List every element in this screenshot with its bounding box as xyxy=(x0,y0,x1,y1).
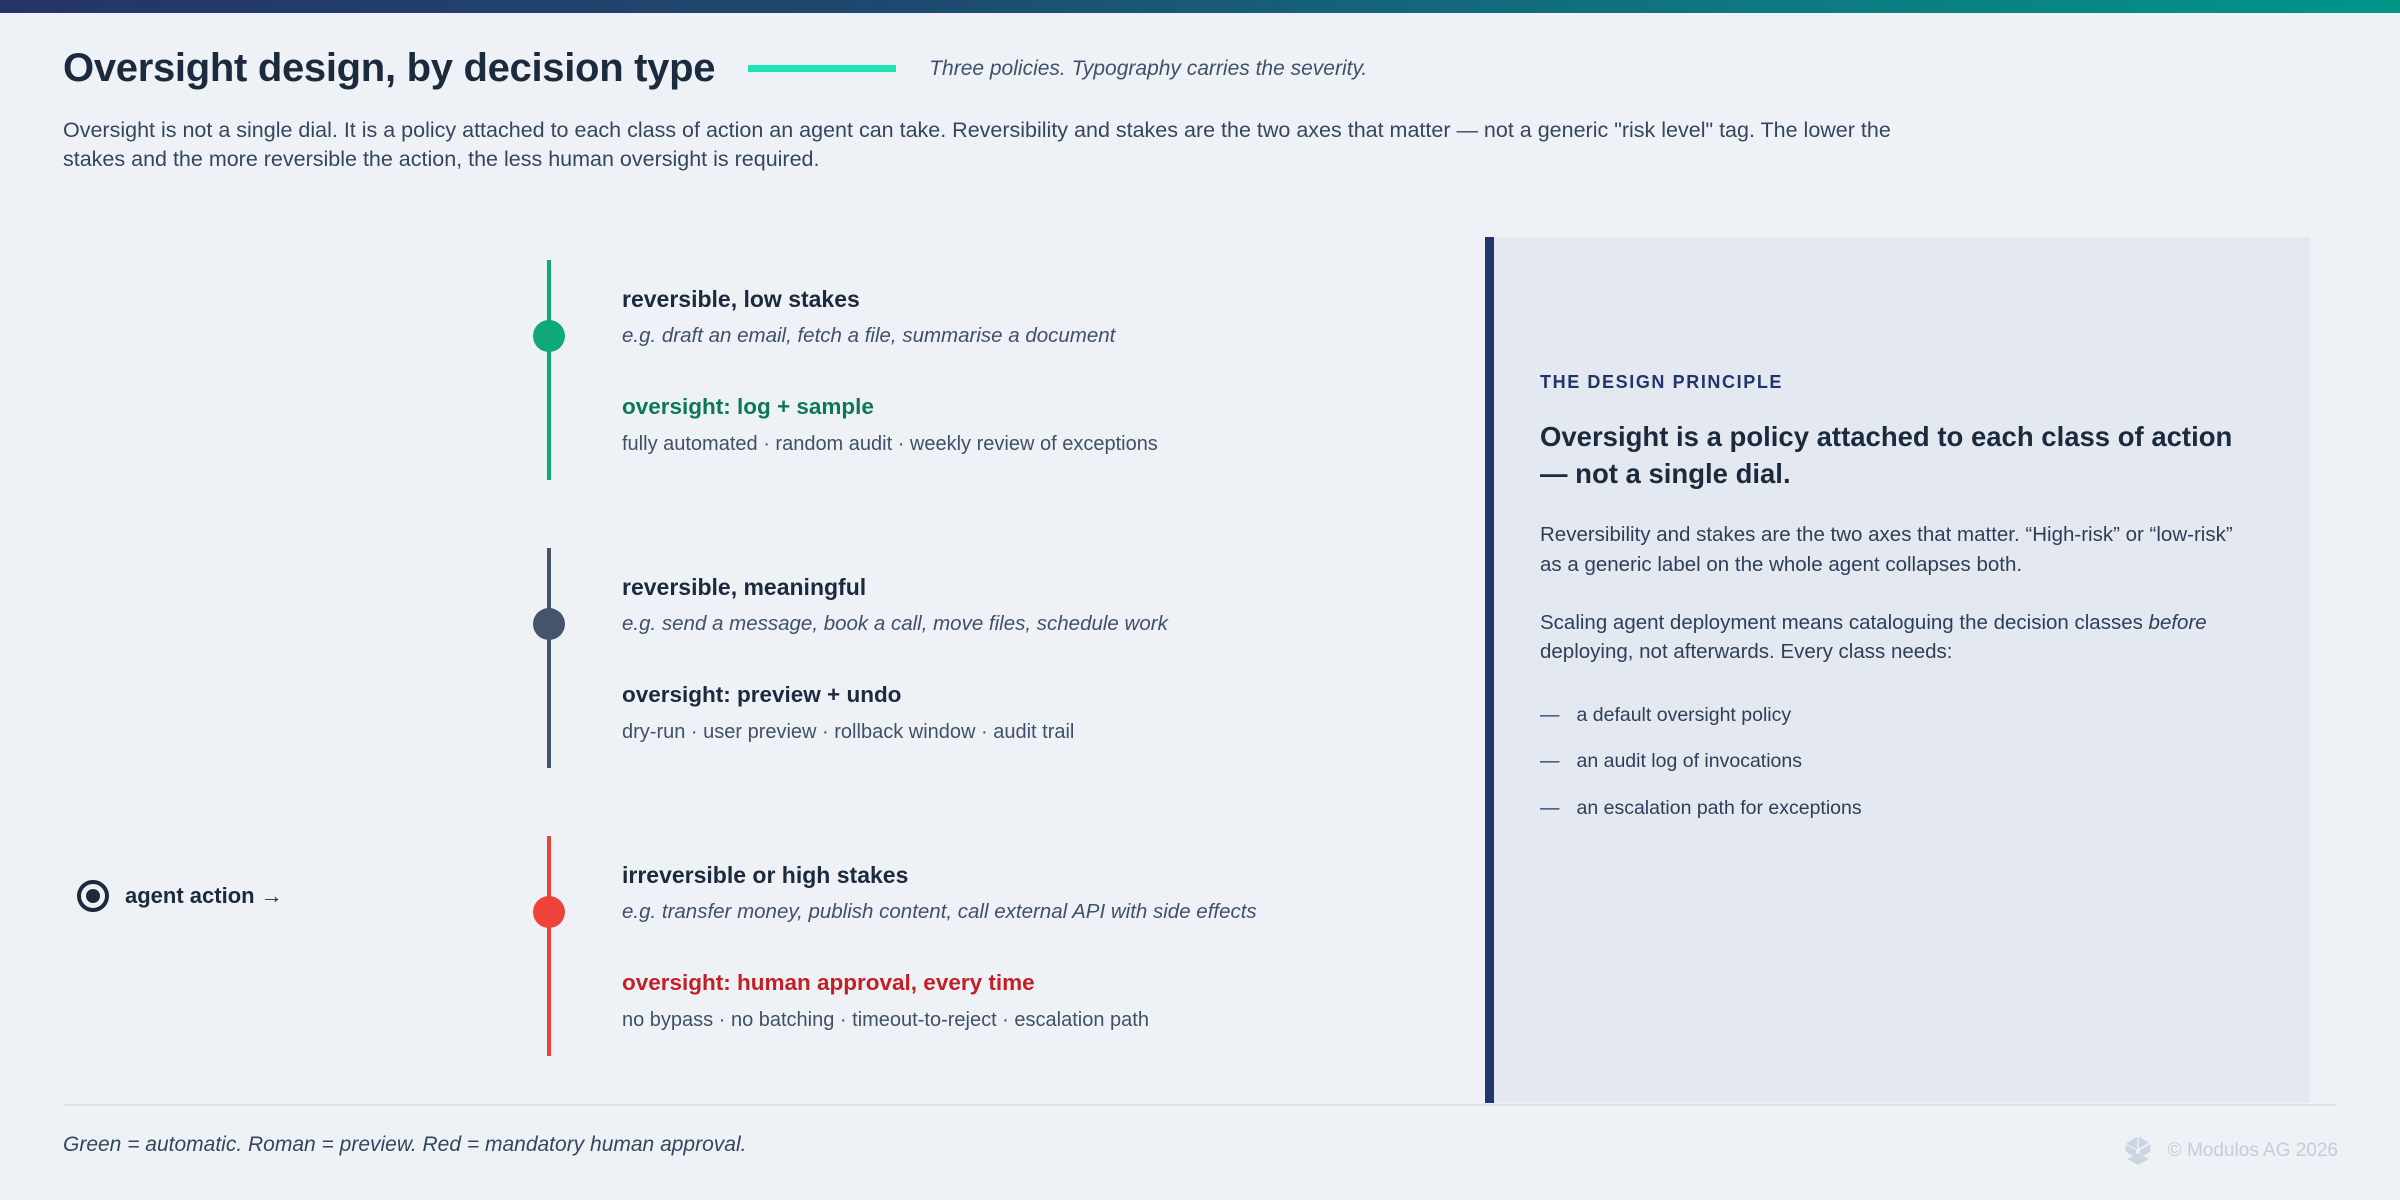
decision-timeline: agent action → reversible, low stakes e.… xyxy=(63,238,1463,1104)
panel-heading: Oversight is a policy attached to each c… xyxy=(1540,419,2248,492)
title-accent-rule xyxy=(748,65,896,72)
infographic-canvas: Oversight design, by decision type Three… xyxy=(0,0,2400,1200)
agent-action-axis-label: agent action → xyxy=(77,880,283,912)
timeline-step[interactable]: reversible, low stakes e.g. draft an ema… xyxy=(483,238,1483,526)
panel-para2-after: deploying, not afterwards. Every class n… xyxy=(1540,640,1953,663)
step-marker-dot xyxy=(533,320,565,352)
list-item-label: an audit log of invocations xyxy=(1577,749,1803,774)
em-dash-bullet-icon: — xyxy=(1540,703,1560,728)
step-policy: oversight: log + sample xyxy=(622,393,1462,421)
footer-divider xyxy=(63,1104,2337,1106)
panel-kicker: THE DESIGN PRINCIPLE xyxy=(1540,372,2248,393)
title-row: Oversight design, by decision type Three… xyxy=(63,46,2343,91)
footer-brand: © Modulos AG 2026 xyxy=(2121,1134,2338,1168)
panel-para2-emphasis: before xyxy=(2149,611,2207,634)
step-marker-dot xyxy=(533,608,565,640)
title-kicker: Three policies. Typography carries the s… xyxy=(929,57,1367,81)
design-principle-panel: THE DESIGN PRINCIPLE Oversight is a poli… xyxy=(1485,237,2310,1103)
footer-legend: Green = automatic. Roman = preview. Red … xyxy=(63,1133,746,1157)
step-body: reversible, low stakes e.g. draft an ema… xyxy=(622,285,1462,457)
timeline-rail: reversible, low stakes e.g. draft an ema… xyxy=(483,238,1483,1102)
step-heading: reversible, low stakes xyxy=(622,285,1462,314)
step-heading: reversible, meaningful xyxy=(622,573,1462,602)
step-connector-line xyxy=(547,260,551,480)
em-dash-bullet-icon: — xyxy=(1540,796,1560,821)
step-heading: irreversible or high stakes xyxy=(622,861,1462,890)
target-dot-icon xyxy=(77,880,109,912)
panel-requirements-list: — a default oversight policy — an audit … xyxy=(1540,703,2248,821)
step-body: reversible, meaningful e.g. send a messa… xyxy=(622,573,1462,745)
body-area: agent action → reversible, low stakes e.… xyxy=(0,238,2400,1104)
step-policy-detail: fully automated · random audit · weekly … xyxy=(622,431,1462,457)
list-item-label: an escalation path for exceptions xyxy=(1577,796,1862,821)
list-item-label: a default oversight policy xyxy=(1577,703,1792,728)
timeline-step[interactable]: reversible, meaningful e.g. send a messa… xyxy=(483,526,1483,814)
panel-inner: THE DESIGN PRINCIPLE Oversight is a poli… xyxy=(1494,237,2310,821)
list-item: — an audit log of invocations xyxy=(1540,749,2248,774)
step-examples: e.g. send a message, book a call, move f… xyxy=(622,611,1462,638)
step-policy-detail: no bypass · no batching · timeout-to-rej… xyxy=(622,1007,1462,1033)
step-policy: oversight: human approval, every time xyxy=(622,969,1462,997)
em-dash-bullet-icon: — xyxy=(1540,749,1560,774)
step-examples: e.g. draft an email, fetch a file, summa… xyxy=(622,323,1462,350)
panel-paragraph-2: Scaling agent deployment means catalogui… xyxy=(1540,608,2248,667)
step-examples: e.g. transfer money, publish content, ca… xyxy=(622,899,1462,926)
agent-action-label: agent action → xyxy=(125,883,283,909)
panel-para2-before: Scaling agent deployment means catalogui… xyxy=(1540,611,2149,634)
copyright-label: © Modulos AG 2026 xyxy=(2168,1140,2338,1162)
panel-paragraph-1: Reversibility and stakes are the two axe… xyxy=(1540,520,2248,579)
step-body: irreversible or high stakes e.g. transfe… xyxy=(622,861,1462,1033)
step-marker-dot xyxy=(533,896,565,928)
page-title: Oversight design, by decision type xyxy=(63,46,715,91)
list-item: — a default oversight policy xyxy=(1540,703,2248,728)
step-policy-detail: dry-run · user preview · rollback window… xyxy=(622,719,1462,745)
step-connector-line xyxy=(547,548,551,768)
top-gradient-bar xyxy=(0,0,2400,13)
step-connector-line xyxy=(547,836,551,1056)
timeline-step[interactable]: irreversible or high stakes e.g. transfe… xyxy=(483,814,1483,1102)
intro-paragraph: Oversight is not a single dial. It is a … xyxy=(63,116,1893,173)
step-policy: oversight: preview + undo xyxy=(622,681,1462,709)
header: Oversight design, by decision type Three… xyxy=(63,46,2343,173)
modulos-cube-logo xyxy=(2121,1134,2155,1168)
list-item: — an escalation path for exceptions xyxy=(1540,796,2248,821)
